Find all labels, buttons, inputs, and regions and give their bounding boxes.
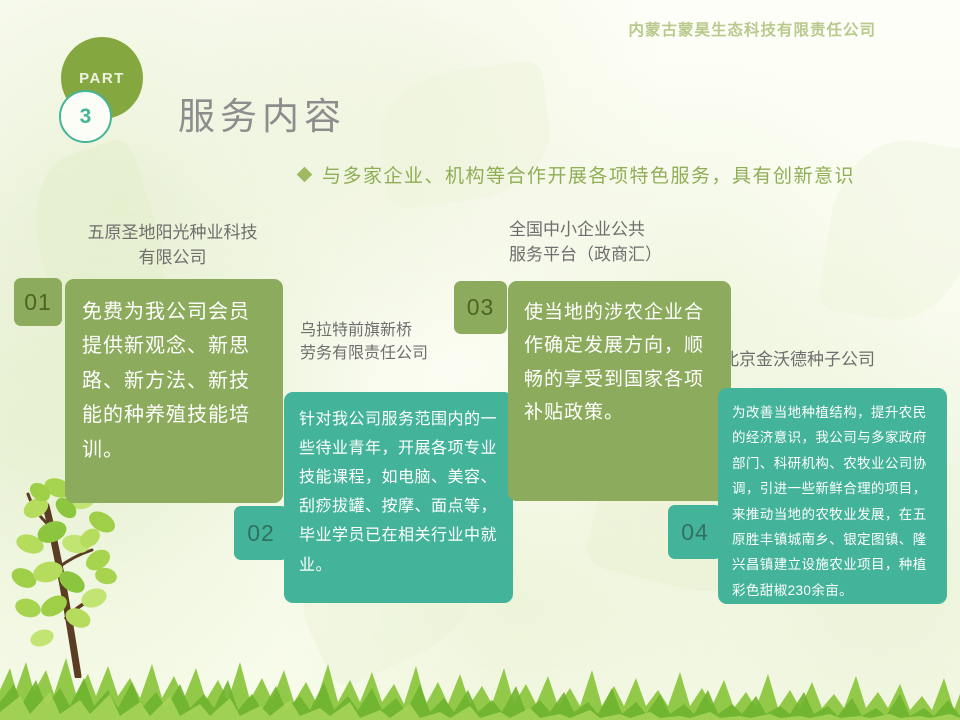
part-label: PART (79, 70, 125, 87)
card-badge-03[interactable]: 03 (454, 281, 507, 334)
card-body-01[interactable]: 免费为我公司会员提供新观念、新思路、新方法、新技能的种养殖技能培训。 (65, 279, 283, 503)
diamond-icon (297, 167, 313, 183)
grass-icon (0, 628, 960, 720)
card-badge-02[interactable]: 02 (234, 506, 288, 560)
card-badge-01[interactable]: 01 (14, 278, 62, 326)
slide-canvas: 内蒙古蒙昊生态科技有限责任公司 PART 3 服务内容 与多家企业、机构等合作开… (0, 0, 960, 720)
card-title-03: 全国中小企业公共 服务平台（政商汇） (509, 218, 759, 267)
card-body-04[interactable]: 为改善当地种植结构，提升农民的经济意识，我公司与多家政府部门、科研机构、农牧业公… (718, 388, 947, 604)
bokeh-leaf-3 (372, 59, 558, 211)
company-name: 内蒙古蒙昊生态科技有限责任公司 (628, 18, 876, 40)
card-badge-04[interactable]: 04 (668, 505, 722, 559)
subtitle-row: 与多家企业、机构等合作开展各项特色服务，具有创新意识 (299, 161, 855, 188)
card-title-04: 北京金沃德种子公司 (722, 348, 952, 373)
card-title-01: 五原圣地阳光种业科技 有限公司 (64, 221, 281, 270)
part-number-circle: 3 (59, 90, 112, 143)
card-body-02[interactable]: 针对我公司服务范围内的一些待业青年，开展各项专业技能课程，如电脑、美容、刮痧拔罐… (284, 392, 513, 603)
page-title: 服务内容 (178, 86, 346, 140)
card-body-03[interactable]: 使当地的涉农企业合作确定发展方向，顺畅的享受到国家各项补贴政策。 (508, 281, 731, 501)
subtitle-text: 与多家企业、机构等合作开展各项特色服务，具有创新意识 (322, 161, 855, 188)
